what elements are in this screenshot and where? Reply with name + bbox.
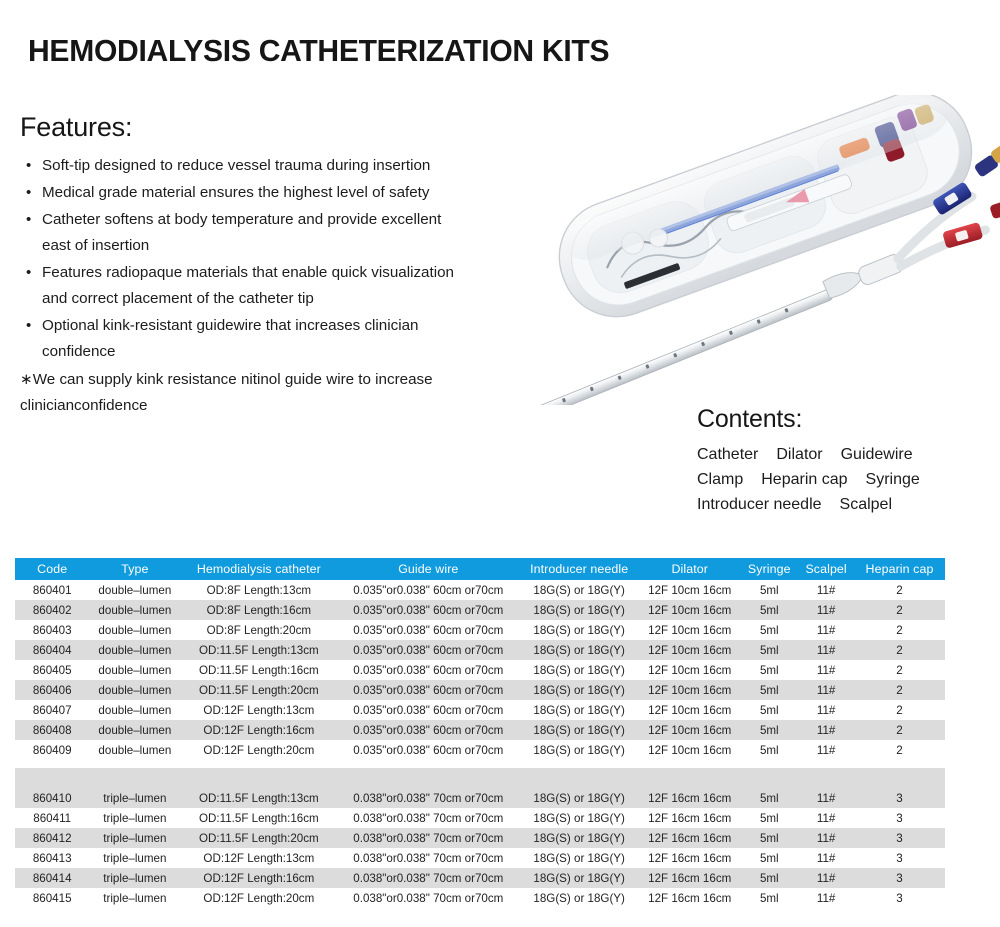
table-cell: 3 <box>854 868 945 888</box>
table-cell: 3 <box>854 788 945 808</box>
table-cell: 12F 10cm 16cm <box>639 680 740 700</box>
table-cell: 5ml <box>740 620 798 640</box>
table-cell: 12F 10cm 16cm <box>639 620 740 640</box>
table-cell: 3 <box>854 848 945 868</box>
table-cell: 860414 <box>15 868 89 888</box>
feature-item: •Soft-tip designed to reduce vessel trau… <box>20 153 460 179</box>
contents-item: Guidewire <box>841 446 913 463</box>
table-cell: triple–lumen <box>89 788 180 808</box>
contents-item: Catheter <box>697 446 758 463</box>
bullet-icon: • <box>26 207 31 233</box>
table-cell: 12F 16cm 16cm <box>639 868 740 888</box>
table-cell: OD:8F Length:16cm <box>180 600 337 620</box>
features-section: Features: •Soft-tip designed to reduce v… <box>20 112 460 419</box>
table-cell: 18G(S) or 18G(Y) <box>519 600 639 620</box>
table-cell: 0.035"or0.038" 60cm or70cm <box>337 720 519 740</box>
table-row: 860404double–lumenOD:11.5F Length:13cm0.… <box>15 640 945 660</box>
table-cell: 12F 16cm 16cm <box>639 888 740 908</box>
feature-item: •Features radiopaque materials that enab… <box>20 260 460 312</box>
table-cell: 2 <box>854 700 945 720</box>
table-row: 860414triple–lumenOD:12F Length:16cm0.03… <box>15 868 945 888</box>
table-group-separator <box>15 768 945 788</box>
table-cell: triple–lumen <box>89 888 180 908</box>
table-row: 860411triple–lumenOD:11.5F Length:16cm0.… <box>15 808 945 828</box>
table-group-gap-cell <box>15 760 945 768</box>
table-cell: 5ml <box>740 788 798 808</box>
table-row: 860407double–lumenOD:12F Length:13cm0.03… <box>15 700 945 720</box>
table-cell: 2 <box>854 740 945 760</box>
table-cell: triple–lumen <box>89 868 180 888</box>
table-header-cell: Code <box>15 558 89 580</box>
table-cell: 11# <box>798 808 854 828</box>
table-cell: double–lumen <box>89 620 180 640</box>
table-cell: 860401 <box>15 580 89 600</box>
table-row: 860412triple–lumenOD:11.5F Length:20cm0.… <box>15 828 945 848</box>
table-cell: 18G(S) or 18G(Y) <box>519 828 639 848</box>
table-cell: 11# <box>798 660 854 680</box>
table-cell: 0.035"or0.038" 60cm or70cm <box>337 660 519 680</box>
table-cell: double–lumen <box>89 640 180 660</box>
table-cell: double–lumen <box>89 580 180 600</box>
table-cell: OD:8F Length:13cm <box>180 580 337 600</box>
table-cell: 2 <box>854 660 945 680</box>
contents-row: Introducer needleScalpel <box>697 492 997 517</box>
table-cell: OD:8F Length:20cm <box>180 620 337 640</box>
table-row: 860413triple–lumenOD:12F Length:13cm0.03… <box>15 848 945 868</box>
features-heading: Features: <box>20 112 460 143</box>
table-cell: 11# <box>798 580 854 600</box>
table-cell: 860403 <box>15 620 89 640</box>
table-cell: 18G(S) or 18G(Y) <box>519 808 639 828</box>
table-cell: triple–lumen <box>89 828 180 848</box>
table-row: 860402double–lumenOD:8F Length:16cm0.035… <box>15 600 945 620</box>
contents-item: Heparin cap <box>761 471 847 488</box>
table-cell: 11# <box>798 620 854 640</box>
table-cell: 0.035"or0.038" 60cm or70cm <box>337 600 519 620</box>
table-cell: OD:12F Length:13cm <box>180 700 337 720</box>
table-cell: 5ml <box>740 580 798 600</box>
table-cell: 5ml <box>740 720 798 740</box>
table-cell: 0.038"or0.038" 70cm or70cm <box>337 808 519 828</box>
table-cell: 12F 10cm 16cm <box>639 720 740 740</box>
table-cell: 5ml <box>740 868 798 888</box>
table-cell: OD:12F Length:16cm <box>180 720 337 740</box>
table-row: 860406double–lumenOD:11.5F Length:20cm0.… <box>15 680 945 700</box>
table-cell: 11# <box>798 700 854 720</box>
table-cell: 3 <box>854 808 945 828</box>
table-row: 860415triple–lumenOD:12F Length:20cm0.03… <box>15 888 945 908</box>
table-cell: double–lumen <box>89 660 180 680</box>
table-cell: 11# <box>798 640 854 660</box>
bullet-icon: • <box>26 180 31 206</box>
table-cell: double–lumen <box>89 720 180 740</box>
table-cell: 12F 10cm 16cm <box>639 580 740 600</box>
table-cell: double–lumen <box>89 700 180 720</box>
feature-item-label: Features radiopaque materials that enabl… <box>42 264 454 307</box>
table-cell: 5ml <box>740 740 798 760</box>
product-photo <box>455 95 1000 405</box>
feature-item: •Catheter softens at body temperature an… <box>20 207 460 259</box>
table-header-cell: Heparin cap <box>854 558 945 580</box>
table-cell: 2 <box>854 680 945 700</box>
table-row: 860408double–lumenOD:12F Length:16cm0.03… <box>15 720 945 740</box>
table-cell: 11# <box>798 868 854 888</box>
feature-item-label: Optional kink-resistant guidewire that i… <box>42 317 419 360</box>
table-cell: 860405 <box>15 660 89 680</box>
table-cell: 5ml <box>740 660 798 680</box>
table-cell: 5ml <box>740 640 798 660</box>
table-cell: 2 <box>854 580 945 600</box>
table-cell: 860407 <box>15 700 89 720</box>
table-cell: 12F 16cm 16cm <box>639 828 740 848</box>
feature-item: •Optional kink-resistant guidewire that … <box>20 313 460 365</box>
table-cell: 0.038"or0.038" 70cm or70cm <box>337 788 519 808</box>
contents-row: CatheterDilatorGuidewire <box>697 442 997 467</box>
table-cell: 5ml <box>740 680 798 700</box>
table-cell: 0.038"or0.038" 70cm or70cm <box>337 828 519 848</box>
table-cell: 0.038"or0.038" 70cm or70cm <box>337 868 519 888</box>
table-header-cell: Syringe <box>740 558 798 580</box>
bullet-icon: • <box>26 313 31 339</box>
table-cell: 2 <box>854 640 945 660</box>
table-cell: 12F 16cm 16cm <box>639 788 740 808</box>
table-cell: double–lumen <box>89 600 180 620</box>
contents-section: Contents: CatheterDilatorGuidewireClampH… <box>697 405 997 517</box>
table-cell: 18G(S) or 18G(Y) <box>519 720 639 740</box>
table-header-row: CodeTypeHemodialysis catheterGuide wireI… <box>15 558 945 580</box>
contents-item: Introducer needle <box>697 496 822 513</box>
table-cell: 18G(S) or 18G(Y) <box>519 640 639 660</box>
feature-item-label: Soft-tip designed to reduce vessel traum… <box>42 157 430 174</box>
table-cell: 860410 <box>15 788 89 808</box>
bullet-icon: • <box>26 153 31 179</box>
table-cell: 860415 <box>15 888 89 908</box>
table-body: 860401double–lumenOD:8F Length:13cm0.035… <box>15 580 945 908</box>
contents-item: Syringe <box>866 471 920 488</box>
table-cell: 11# <box>798 888 854 908</box>
contents-item: Scalpel <box>840 496 892 513</box>
table-cell: 18G(S) or 18G(Y) <box>519 868 639 888</box>
page-title: HEMODIALYSIS CATHETERIZATION KITS <box>28 33 609 69</box>
contents-heading: Contents: <box>697 405 997 434</box>
specification-table-container: CodeTypeHemodialysis catheterGuide wireI… <box>15 558 945 908</box>
table-header-cell: Dilator <box>639 558 740 580</box>
bullet-icon: • <box>26 260 31 286</box>
contents-list: CatheterDilatorGuidewireClampHeparin cap… <box>697 442 997 517</box>
table-cell: 3 <box>854 888 945 908</box>
table-cell: OD:11.5F Length:20cm <box>180 680 337 700</box>
table-group-separator-cell <box>15 768 945 788</box>
table-cell: 0.035"or0.038" 60cm or70cm <box>337 680 519 700</box>
table-cell: OD:11.5F Length:20cm <box>180 828 337 848</box>
table-cell: 860404 <box>15 640 89 660</box>
table-cell: 18G(S) or 18G(Y) <box>519 788 639 808</box>
table-cell: 5ml <box>740 888 798 908</box>
table-cell: OD:12F Length:20cm <box>180 888 337 908</box>
specification-table: CodeTypeHemodialysis catheterGuide wireI… <box>15 558 945 908</box>
contents-item: Dilator <box>776 446 822 463</box>
table-cell: OD:11.5F Length:16cm <box>180 808 337 828</box>
table-cell: 5ml <box>740 600 798 620</box>
table-cell: 5ml <box>740 848 798 868</box>
table-cell: 11# <box>798 788 854 808</box>
table-cell: 0.038"or0.038" 70cm or70cm <box>337 888 519 908</box>
table-cell: 0.035"or0.038" 60cm or70cm <box>337 640 519 660</box>
feature-item-label: Catheter softens at body temperature and… <box>42 211 441 254</box>
table-cell: 18G(S) or 18G(Y) <box>519 680 639 700</box>
table-cell: 860402 <box>15 600 89 620</box>
table-row: 860401double–lumenOD:8F Length:13cm0.035… <box>15 580 945 600</box>
table-cell: 860409 <box>15 740 89 760</box>
table-cell: 11# <box>798 680 854 700</box>
table-cell: OD:11.5F Length:16cm <box>180 660 337 680</box>
table-header-cell: Type <box>89 558 180 580</box>
table-header-cell: Introducer needle <box>519 558 639 580</box>
table-cell: OD:12F Length:16cm <box>180 868 337 888</box>
table-cell: 12F 16cm 16cm <box>639 808 740 828</box>
table-row: 860405double–lumenOD:11.5F Length:16cm0.… <box>15 660 945 680</box>
table-row: 860403double–lumenOD:8F Length:20cm0.035… <box>15 620 945 640</box>
table-cell: triple–lumen <box>89 808 180 828</box>
table-cell: 12F 10cm 16cm <box>639 600 740 620</box>
table-cell: 2 <box>854 620 945 640</box>
table-cell: 11# <box>798 828 854 848</box>
features-note: ∗We can supply kink resistance nitinol g… <box>20 367 460 419</box>
table-cell: 0.035"or0.038" 60cm or70cm <box>337 620 519 640</box>
table-cell: 11# <box>798 720 854 740</box>
product-datasheet-page: HEMODIALYSIS CATHETERIZATION KITS Featur… <box>0 0 1000 927</box>
table-cell: OD:11.5F Length:13cm <box>180 788 337 808</box>
table-cell: 18G(S) or 18G(Y) <box>519 888 639 908</box>
table-cell: 5ml <box>740 828 798 848</box>
table-header-cell: Scalpel <box>798 558 854 580</box>
table-cell: 0.035"or0.038" 60cm or70cm <box>337 700 519 720</box>
table-row: 860410triple–lumenOD:11.5F Length:13cm0.… <box>15 788 945 808</box>
table-cell: OD:11.5F Length:13cm <box>180 640 337 660</box>
table-cell: 18G(S) or 18G(Y) <box>519 700 639 720</box>
table-cell: 3 <box>854 828 945 848</box>
table-cell: 860413 <box>15 848 89 868</box>
table-cell: 0.038"or0.038" 70cm or70cm <box>337 848 519 868</box>
table-cell: 12F 16cm 16cm <box>639 848 740 868</box>
table-cell: 5ml <box>740 700 798 720</box>
table-cell: 12F 10cm 16cm <box>639 700 740 720</box>
contents-row: ClampHeparin capSyringe <box>697 467 997 492</box>
contents-item: Clamp <box>697 471 743 488</box>
table-header-cell: Guide wire <box>337 558 519 580</box>
table-cell: double–lumen <box>89 680 180 700</box>
table-header-cell: Hemodialysis catheter <box>180 558 337 580</box>
table-cell: 12F 10cm 16cm <box>639 740 740 760</box>
table-cell: OD:12F Length:13cm <box>180 848 337 868</box>
table-cell: 18G(S) or 18G(Y) <box>519 620 639 640</box>
table-cell: 0.035"or0.038" 60cm or70cm <box>337 740 519 760</box>
table-cell: 860411 <box>15 808 89 828</box>
table-cell: 860412 <box>15 828 89 848</box>
table-cell: 18G(S) or 18G(Y) <box>519 740 639 760</box>
table-cell: 18G(S) or 18G(Y) <box>519 660 639 680</box>
table-cell: OD:12F Length:20cm <box>180 740 337 760</box>
table-row: 860409double–lumenOD:12F Length:20cm0.03… <box>15 740 945 760</box>
table-cell: 0.035"or0.038" 60cm or70cm <box>337 580 519 600</box>
table-cell: 12F 10cm 16cm <box>639 640 740 660</box>
feature-item-label: Medical grade material ensures the highe… <box>42 184 430 201</box>
feature-item: •Medical grade material ensures the high… <box>20 180 460 206</box>
table-cell: 11# <box>798 740 854 760</box>
table-cell: double–lumen <box>89 740 180 760</box>
table-cell: 11# <box>798 848 854 868</box>
table-cell: 18G(S) or 18G(Y) <box>519 580 639 600</box>
table-cell: 2 <box>854 600 945 620</box>
table-cell: 5ml <box>740 808 798 828</box>
features-list: •Soft-tip designed to reduce vessel trau… <box>20 153 460 365</box>
table-cell: 860408 <box>15 720 89 740</box>
table-cell: 860406 <box>15 680 89 700</box>
table-cell: 18G(S) or 18G(Y) <box>519 848 639 868</box>
table-group-gap <box>15 760 945 768</box>
table-cell: 2 <box>854 720 945 740</box>
table-cell: triple–lumen <box>89 848 180 868</box>
table-cell: 12F 10cm 16cm <box>639 660 740 680</box>
table-cell: 11# <box>798 600 854 620</box>
